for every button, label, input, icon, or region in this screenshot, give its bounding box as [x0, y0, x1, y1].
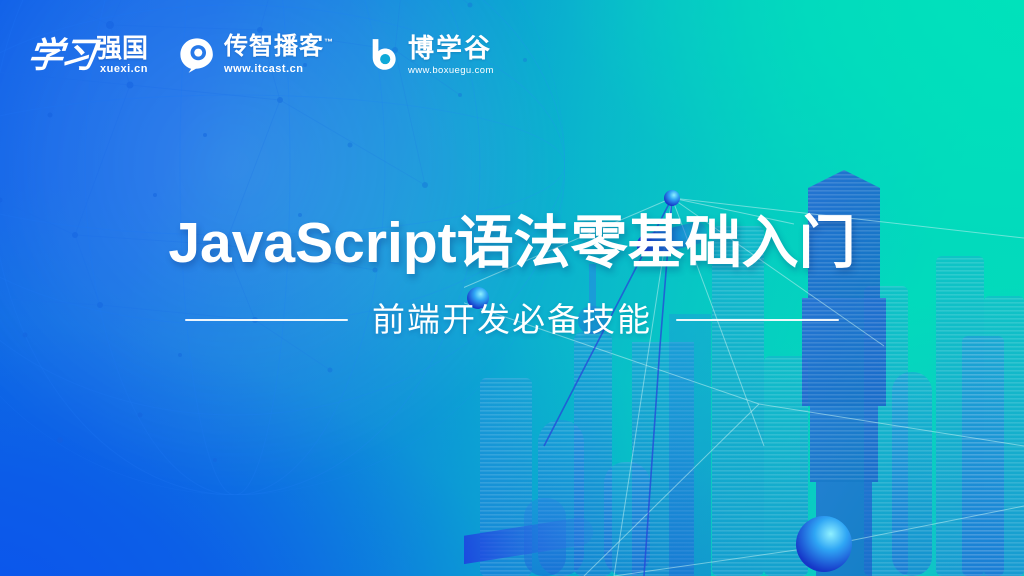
boxuegu-b-logo-icon: [362, 36, 400, 74]
logo-boxuegu[interactable]: 博学谷 www.boxuegu.com: [348, 26, 494, 84]
partner-logo-bar: 学习 强国 xuexi.cn 传智播客™ www.itcast.cn: [28, 26, 494, 84]
xuexi-calligraphy-logo-icon: 学习: [26, 38, 96, 73]
slide-canvas: 学习 强国 xuexi.cn 传智播客™ www.itcast.cn: [0, 0, 1024, 576]
divider-line-right: [676, 319, 839, 321]
logo-itcast[interactable]: 传智播客™ www.itcast.cn: [164, 26, 348, 84]
itcast-swirl-logo-icon: [178, 36, 216, 74]
slide-title: JavaScript语法零基础入门: [0, 211, 1024, 277]
logo-xuexi-url: xuexi.cn: [100, 64, 148, 75]
subtitle-row: 前端开发必备技能: [0, 300, 1024, 340]
logo-boxuegu-name: 博学谷: [408, 35, 494, 61]
logo-itcast-name: 传智播客™: [224, 35, 334, 59]
logo-xuexi-name: 强国: [96, 35, 148, 61]
trademark-symbol: ™: [324, 37, 334, 47]
glow-node-sphere-large-icon: [796, 516, 852, 572]
logo-boxuegu-url: www.boxuegu.com: [408, 66, 494, 76]
slide-subtitle: 前端开发必备技能: [372, 300, 652, 340]
logo-xuexi[interactable]: 学习 强国 xuexi.cn: [28, 26, 164, 84]
divider-line-left: [185, 319, 348, 321]
logo-itcast-url: www.itcast.cn: [224, 64, 334, 75]
